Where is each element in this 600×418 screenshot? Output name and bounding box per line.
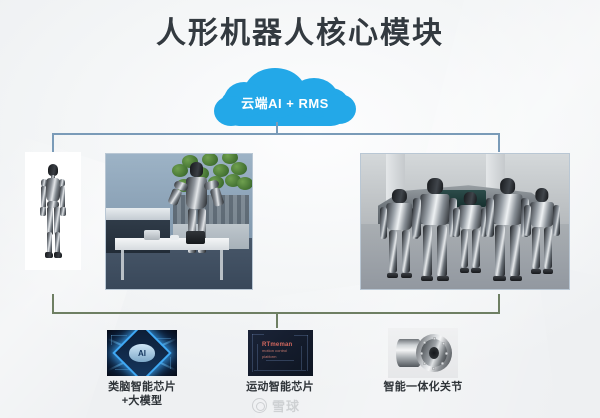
weibo-logo-icon xyxy=(252,398,267,413)
motion-chip-subtitle-2: platform xyxy=(262,354,302,360)
bottom-bracket-right-riser xyxy=(498,294,500,314)
humanoid-robot-group-photo xyxy=(360,153,570,290)
robot-figure xyxy=(455,192,486,273)
bottom-bracket-stem xyxy=(276,312,278,328)
watermark: 雪球 xyxy=(252,396,300,415)
motion-control-chip-thumbnail: RTmeman motion control platform xyxy=(248,330,313,376)
cloud-node: 云端AI + RMS xyxy=(214,66,356,128)
humanoid-robot-manipulation-photo xyxy=(105,153,253,290)
robot-figure xyxy=(382,189,417,278)
module-label-line-1: 智能一体化关节 xyxy=(363,380,483,394)
scene-garage xyxy=(361,154,569,289)
integrated-joint-thumbnail xyxy=(388,328,458,378)
humanoid-robot-standing-photo xyxy=(25,152,81,270)
robot-figure xyxy=(525,188,558,274)
scene-table xyxy=(106,154,252,289)
ai-chip-thumbnail: AI xyxy=(107,330,177,376)
top-bracket-right-drop xyxy=(498,133,500,152)
module-label-ai-chip: 类脑智能芯片 +大模型 xyxy=(82,380,202,408)
robot-figure xyxy=(415,178,455,281)
bottom-bracket-left-riser xyxy=(52,294,54,314)
module-label-line-1: 运动智能芯片 xyxy=(220,380,340,394)
module-label-line-2: +大模型 xyxy=(82,394,202,408)
watermark-text: 雪球 xyxy=(272,396,300,415)
module-label-line-1: 类脑智能芯片 xyxy=(82,380,202,394)
motion-chip-text-block: RTmeman motion control platform xyxy=(262,342,302,360)
module-label-integrated-joint: 智能一体化关节 xyxy=(363,380,483,394)
robot-figure xyxy=(38,164,68,260)
slide-canvas: 人形机器人核心模块 云端AI + RMS xyxy=(0,0,600,418)
page-title: 人形机器人核心模块 xyxy=(0,14,600,54)
top-bracket-left-drop xyxy=(52,133,54,152)
ai-chip-label: AI xyxy=(129,344,155,362)
cloud-label: 云端AI + RMS xyxy=(214,93,356,112)
module-label-motion-chip: 运动智能芯片 xyxy=(220,380,340,394)
joint-bore xyxy=(429,347,439,359)
top-bracket-horizontal xyxy=(52,133,500,135)
robot-figure xyxy=(488,178,528,281)
